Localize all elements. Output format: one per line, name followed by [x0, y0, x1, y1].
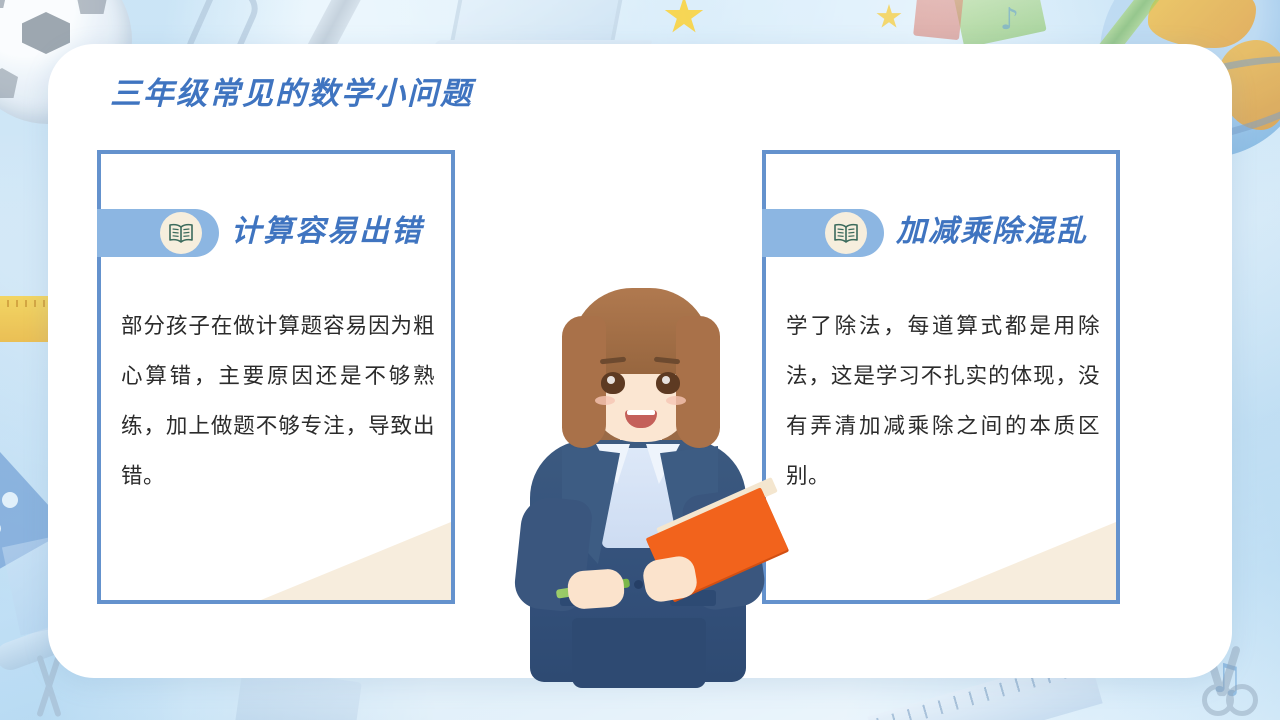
- info-card-1: 计算容易出错 部分孩子在做计算题容易因为粗心算错，主要原因还是不够熟练，加上做题…: [97, 150, 455, 604]
- card-header-pill-1: [97, 209, 219, 257]
- info-card-2: 加减乘除混乱 学了除法，每道算式都是用除法，这是学习不扎实的体现，没有弄清加减乘…: [762, 150, 1120, 604]
- red-book-icon: [913, 0, 965, 40]
- page-title: 三年级常见的数学小问题: [110, 68, 473, 113]
- card-header-pill-2: [762, 209, 884, 257]
- card-body-2: 学了除法，每道算式都是用除法，这是学习不扎实的体现，没有弄清加减乘除之间的本质区…: [786, 302, 1100, 502]
- teacher-illustration: [494, 262, 784, 682]
- slide-canvas: ♫ ♪ ♪ 三年级常见的数学小问题: [0, 0, 1280, 720]
- yellow-ruler-icon: [0, 296, 52, 342]
- music-note-icon-top: ♪: [1000, 2, 1019, 37]
- open-book-icon: [825, 212, 867, 254]
- corner-accent-triangle: [926, 522, 1116, 600]
- card-body-1: 部分孩子在做计算题容易因为粗心算错，主要原因还是不够熟练，加上做题不够专注，导致…: [121, 302, 435, 502]
- card-title-2: 加减乘除混乱: [896, 206, 1088, 250]
- corner-accent-triangle: [261, 522, 451, 600]
- open-book-icon: [160, 212, 202, 254]
- card-title-1: 计算容易出错: [231, 206, 423, 250]
